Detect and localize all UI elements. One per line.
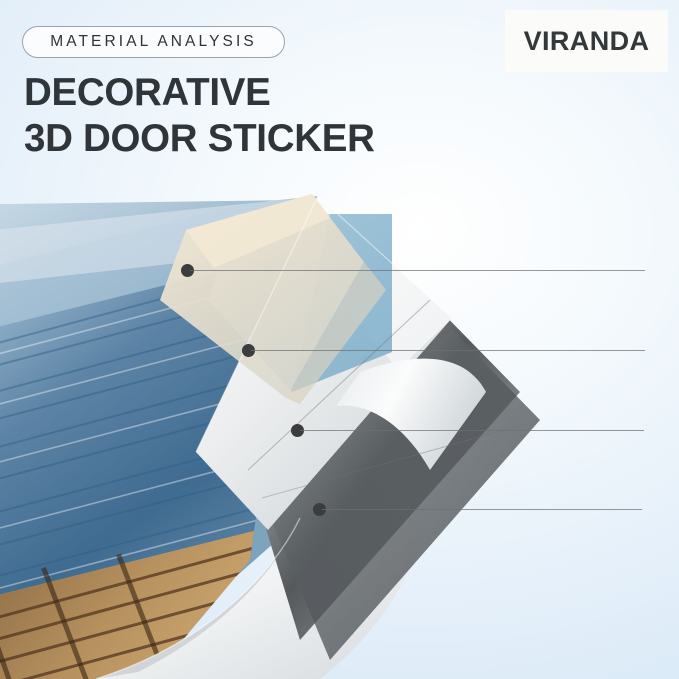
page-title-line-2: 3D DOOR STICKER: [24, 116, 494, 162]
brand-logo-text: VIRANDA: [524, 26, 650, 57]
page-title: DECORATIVE 3D DOOR STICKER: [24, 70, 494, 162]
eyebrow-pill: MATERIAL ANALYSIS: [22, 26, 285, 58]
poster-canvas: MATERIAL ANALYSIS DECORATIVE 3D DOOR STI…: [0, 0, 679, 679]
callout-line-2: [251, 350, 645, 351]
callout-line-4: [322, 509, 642, 510]
page-title-line-1: DECORATIVE: [24, 71, 271, 114]
callout-line-1: [190, 270, 645, 271]
brand-logo-box: VIRANDA: [505, 10, 668, 72]
callout-line-3: [300, 430, 644, 431]
eyebrow-label: MATERIAL ANALYSIS: [50, 33, 257, 51]
